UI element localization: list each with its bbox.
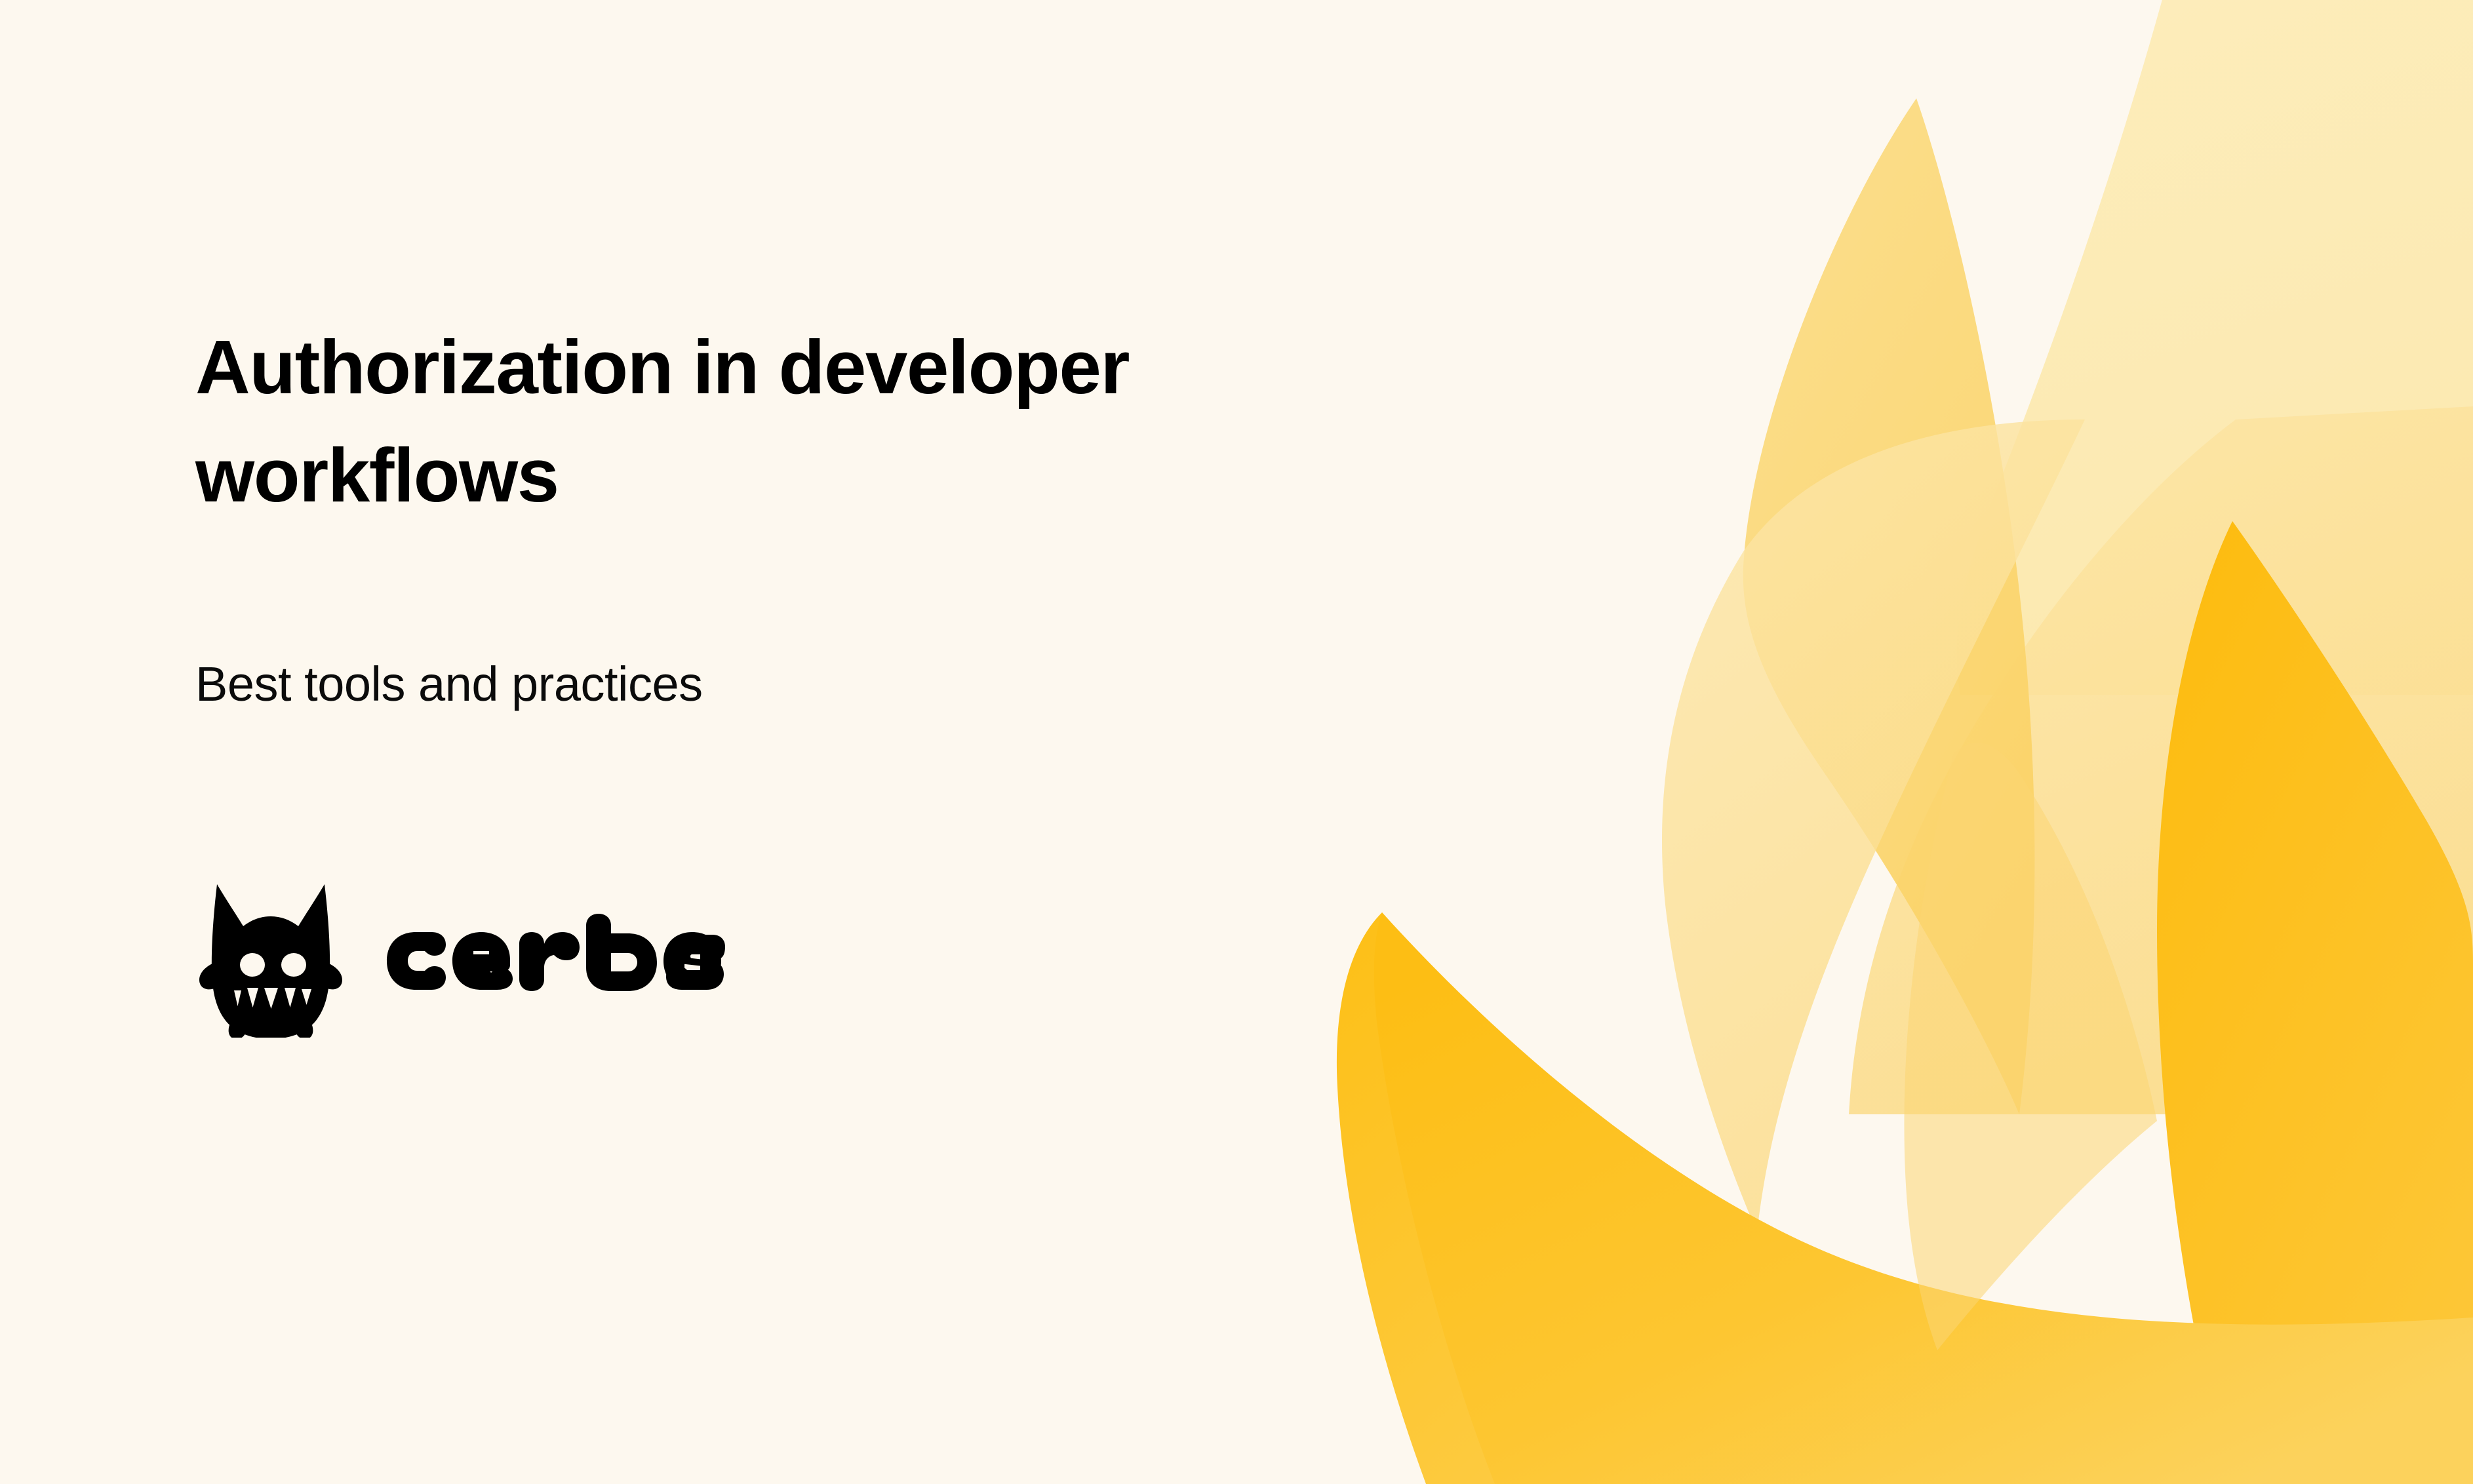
- petal-light-center: [1849, 406, 2473, 1114]
- cerbos-wordmark: [384, 914, 728, 998]
- page-subtitle: Best tools and practices: [195, 655, 703, 714]
- page-title: Authorization in developer workflows: [195, 313, 1375, 529]
- share-card-canvas: Authorization in developer workflows Bes…: [0, 0, 2473, 1484]
- mascot-right-eye: [281, 953, 306, 977]
- brand-logo-lockup: [195, 874, 728, 1038]
- card-content: Authorization in developer workflows Bes…: [195, 0, 1441, 1484]
- petal-orange-base-bowl: [1374, 912, 2473, 1484]
- petal-highlight-inner: [1904, 743, 2157, 1350]
- petal-light-sweep: [1662, 420, 2085, 1232]
- petal-gold-right: [2157, 521, 2473, 1484]
- mascot-left-eye: [240, 953, 265, 977]
- cerberus-mascot-icon: [195, 874, 346, 1038]
- petal-pale-tall-right: [1956, 0, 2473, 695]
- petal-mid-center-tall: [1743, 98, 2035, 1114]
